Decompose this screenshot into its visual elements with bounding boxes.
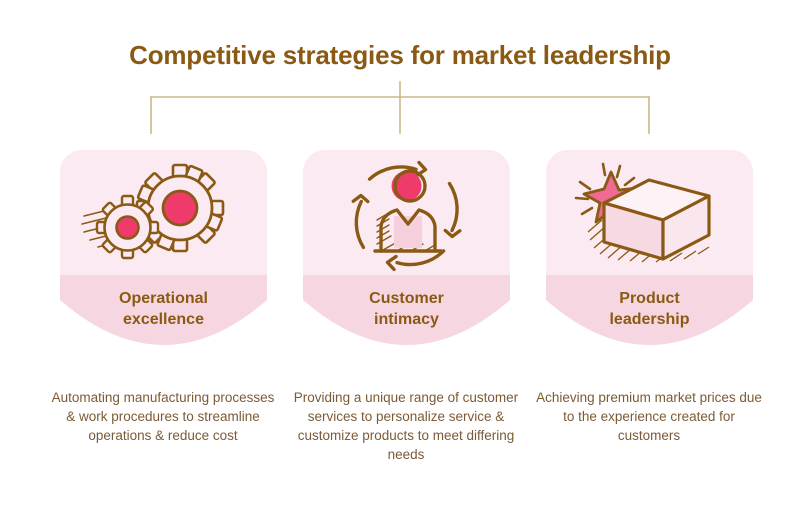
gears-icon [60,158,267,276]
card-label-line1: Operational [60,288,267,309]
card-product-leadership[interactable]: Product leadership [546,150,753,372]
card-label-line1: Customer [303,288,510,309]
card-label-line2: intimacy [303,309,510,330]
card-label-line2: leadership [546,309,753,330]
customer-cycle-icon [303,158,510,276]
description-operational-excellence: Automating manufacturing processes & wor… [48,388,278,445]
box-star-icon [546,158,753,276]
card-label: Operational excellence [60,288,267,330]
card-operational-excellence[interactable]: Operational excellence [60,150,267,372]
card-label: Customer intimacy [303,288,510,330]
infographic-root: Competitive strategies for market leader… [0,0,800,530]
card-label-line2: excellence [60,309,267,330]
card-label: Product leadership [546,288,753,330]
card-label-line1: Product [546,288,753,309]
description-customer-intimacy: Providing a unique range of customer ser… [291,388,521,464]
description-product-leadership: Achieving premium market prices due to t… [534,388,764,445]
card-customer-intimacy[interactable]: Customer intimacy [303,150,510,372]
person-shirt-fill [394,216,422,248]
